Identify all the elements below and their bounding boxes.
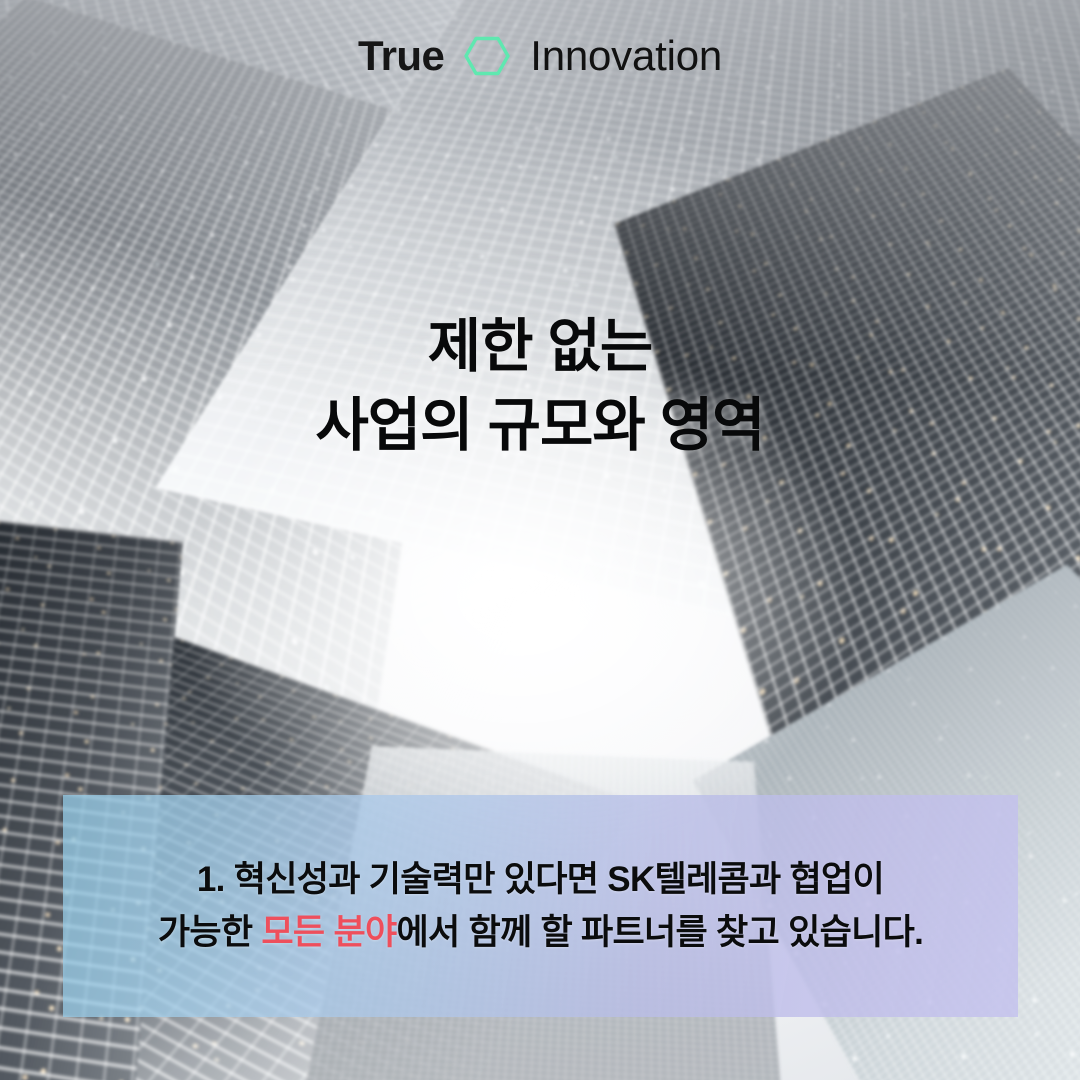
- caption-text: 1. 혁신성과 기술력만 있다면 SK텔레콤과 협업이 가능한 모든 분야에서 …: [134, 853, 947, 959]
- brand-logo: True Innovation: [0, 33, 1080, 79]
- caption-line-2: 가능한 모든 분야에서 함께 할 파트너를 찾고 있습니다.: [158, 906, 923, 959]
- headline-line-2: 사업의 규모와 영역: [0, 387, 1080, 466]
- logo-word-true: True: [358, 35, 444, 77]
- caption-highlight: 모든 분야: [261, 913, 396, 952]
- headline-line-1: 제한 없는: [0, 308, 1080, 387]
- caption-line-2-after: 에서 함께 할 파트너를 찾고 있습니다.: [396, 913, 923, 952]
- caption-line-1: 1. 혁신성과 기술력만 있다면 SK텔레콤과 협업이: [158, 853, 923, 906]
- poster-canvas: True Innovation 제한 없는 사업의 규모와 영역 1. 혁신성과…: [0, 0, 1080, 1080]
- caption-panel: 1. 혁신성과 기술력만 있다면 SK텔레콤과 협업이 가능한 모든 분야에서 …: [63, 795, 1018, 1017]
- hexagon-icon: [464, 33, 510, 79]
- caption-line-2-before: 가능한: [158, 913, 262, 952]
- page-title: 제한 없는 사업의 규모와 영역: [0, 308, 1080, 466]
- logo-word-innovation: Innovation: [530, 35, 722, 77]
